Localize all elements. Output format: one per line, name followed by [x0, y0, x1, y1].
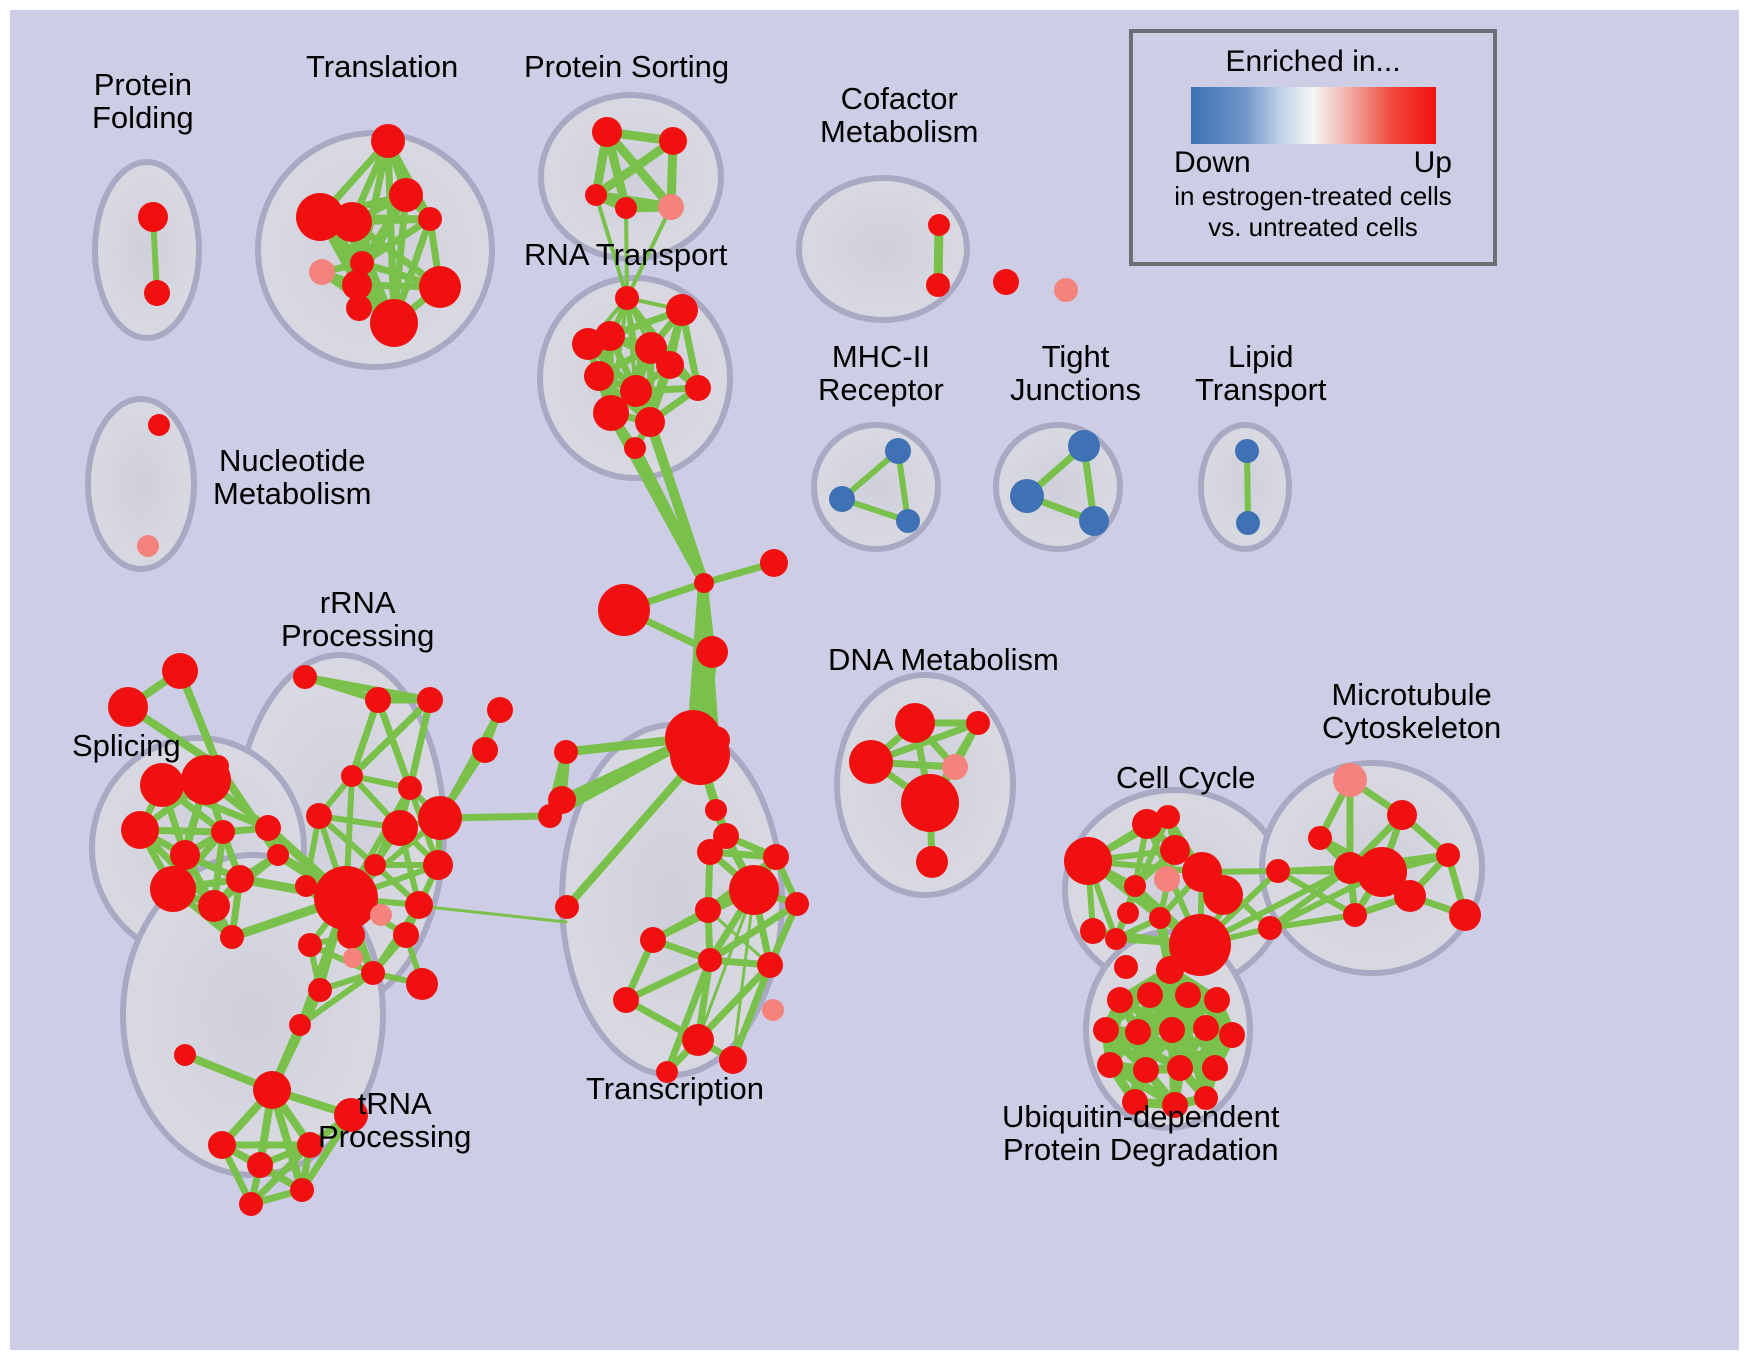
node-up [1114, 955, 1138, 979]
node-up [705, 799, 727, 821]
node-up [1387, 800, 1417, 830]
legend-endpoints: Down Up [1174, 146, 1452, 180]
node-up [1093, 1017, 1119, 1043]
node-down [1068, 430, 1100, 462]
node-up [298, 933, 322, 957]
node-up [685, 375, 711, 401]
node-up [1160, 835, 1190, 865]
node-up [572, 328, 604, 360]
node-up [585, 184, 607, 206]
node-down [1235, 439, 1259, 463]
node-up [593, 395, 629, 431]
node-up [1124, 875, 1146, 897]
cluster-label-microtubule: Microtubule Cytoskeleton [1322, 678, 1501, 744]
node-up [1203, 875, 1243, 915]
node-up [364, 854, 386, 876]
node-up [656, 351, 684, 379]
legend-subtitle-line2: vs. untreated cells [1208, 213, 1418, 242]
node-up [785, 892, 809, 916]
node-up [1125, 1019, 1151, 1045]
node-mid [137, 535, 159, 557]
node-up [337, 921, 365, 949]
node-up [760, 549, 788, 577]
cluster-label-nucleotide: Nucleotide Metabolism [213, 444, 372, 510]
node-up [640, 927, 666, 953]
cluster-label-protein-folding: Protein Folding [92, 68, 194, 134]
cluster-label-ubiquitin: Ubiquitin-dependent Protein Degradation [1002, 1100, 1280, 1166]
node-up [895, 703, 935, 743]
cluster-label-splicing: Splicing [72, 729, 181, 762]
node-up [393, 922, 419, 948]
node-up [1308, 826, 1332, 850]
node-up [670, 725, 730, 785]
node-up [598, 584, 650, 636]
node-up [267, 844, 289, 866]
node-up [220, 925, 244, 949]
node-up [1117, 902, 1139, 924]
node-mid [1054, 278, 1078, 302]
node-up [849, 740, 893, 784]
node-up [729, 865, 779, 915]
node-up [1105, 928, 1127, 950]
node-up [306, 803, 332, 829]
cluster-label-rrna: rRNA Processing [281, 586, 434, 652]
node-down [885, 438, 911, 464]
node-up [370, 299, 418, 347]
node-up [239, 1192, 263, 1216]
cluster-label-transcription: Transcription [586, 1072, 764, 1105]
node-up [1064, 837, 1112, 885]
node-up [1175, 982, 1201, 1008]
node-up [290, 1178, 314, 1202]
node-down [1010, 479, 1044, 513]
node-up [293, 665, 317, 689]
node-up [419, 266, 461, 308]
cluster-label-lipid-transport: Lipid Transport [1195, 340, 1327, 406]
node-mid [1154, 866, 1180, 892]
node-up [901, 774, 959, 832]
node-up [538, 804, 562, 828]
legend-title: Enriched in... [1225, 45, 1400, 79]
node-mid [762, 999, 784, 1021]
node-up [150, 866, 196, 912]
node-up [993, 269, 1019, 295]
node-up [555, 895, 579, 919]
hull-protein-folding [95, 162, 199, 338]
node-up [1449, 899, 1481, 931]
node-down [896, 509, 920, 533]
node-up [1080, 918, 1106, 944]
node-up [763, 844, 789, 870]
node-up [1167, 1055, 1193, 1081]
node-up [1394, 880, 1426, 912]
hull-protein-sorting [541, 95, 721, 259]
node-up [247, 1152, 273, 1178]
node-up [757, 952, 783, 978]
node-up [162, 653, 198, 689]
node-up [624, 437, 646, 459]
node-up [926, 273, 950, 297]
node-up [554, 740, 578, 764]
node-mid [1333, 763, 1367, 797]
legend-high-label: Up [1414, 146, 1452, 180]
node-mid [658, 194, 684, 220]
cluster-label-translation: Translation [306, 50, 458, 83]
node-up [615, 197, 637, 219]
node-up [255, 815, 281, 841]
figure-root: Protein Folding Translation Protein Sort… [0, 0, 1750, 1360]
cluster-label-dna-metabolism: DNA Metabolism [828, 643, 1059, 676]
node-up [719, 1046, 747, 1074]
node-up [916, 846, 948, 878]
node-up [181, 755, 231, 805]
node-up [417, 687, 443, 713]
node-up [1204, 987, 1230, 1013]
legend-color-bar [1191, 87, 1436, 144]
cluster-label-trna: tRNA Processing [318, 1087, 471, 1153]
node-down [1079, 506, 1109, 536]
node-up [108, 687, 148, 727]
node-up [697, 839, 723, 865]
node-up [695, 897, 721, 923]
node-up [211, 820, 235, 844]
node-up [208, 1131, 236, 1159]
node-up [198, 890, 230, 922]
node-up [382, 810, 418, 846]
node-up [487, 697, 513, 723]
node-up [615, 286, 639, 310]
node-up [966, 711, 990, 735]
cluster-label-mhc2: MHC-II Receptor [818, 340, 944, 406]
node-up [332, 202, 372, 242]
node-up [138, 202, 168, 232]
node-up [418, 796, 462, 840]
cluster-label-tight-junctions: Tight Junctions [1010, 340, 1141, 406]
node-up [1107, 987, 1133, 1013]
node-up [148, 414, 170, 436]
cluster-label-rna-transport: RNA Transport [524, 238, 727, 271]
node-up [398, 776, 422, 800]
node-mid [343, 948, 363, 968]
node-down [829, 486, 855, 512]
node-up [1137, 982, 1163, 1008]
node-up [659, 127, 687, 155]
node-up [635, 407, 665, 437]
legend-low-label: Down [1174, 146, 1251, 180]
node-up [584, 361, 614, 391]
node-up [592, 117, 622, 147]
cluster-label-cell-cycle: Cell Cycle [1116, 761, 1256, 794]
node-mid [309, 259, 335, 285]
legend-box: Enriched in... Down Up in estrogen-treat… [1129, 29, 1497, 266]
node-up [1219, 1022, 1245, 1048]
node-up [406, 968, 438, 1000]
node-up [698, 948, 722, 972]
node-up [666, 294, 698, 326]
hull-mhc2 [814, 425, 938, 549]
node-up [1149, 907, 1171, 929]
node-up [694, 573, 714, 593]
node-up [289, 1014, 311, 1036]
node-up [1193, 1015, 1219, 1041]
node-up [405, 891, 433, 919]
node-up [365, 687, 391, 713]
node-up [418, 207, 442, 231]
node-up [1156, 805, 1180, 829]
node-up [1266, 859, 1290, 883]
node-up [1258, 916, 1282, 940]
node-up [696, 636, 728, 668]
node-up [423, 850, 453, 880]
node-up [253, 1071, 291, 1109]
node-up [613, 987, 639, 1013]
cluster-label-cofactor: Cofactor Metabolism [820, 82, 979, 148]
node-mid [942, 754, 968, 780]
node-up [389, 178, 423, 212]
node-up [144, 280, 170, 306]
node-up [295, 875, 317, 897]
node-up [1097, 1052, 1123, 1078]
node-up [308, 978, 332, 1002]
node-up [1133, 1057, 1159, 1083]
node-up [1159, 1017, 1185, 1043]
node-up [1156, 956, 1184, 984]
node-up [928, 214, 950, 236]
node-up [1436, 843, 1460, 867]
node-up [226, 865, 254, 893]
node-mid [370, 904, 392, 926]
node-up [346, 295, 372, 321]
node-up [682, 1024, 714, 1056]
cluster-label-protein-sorting: Protein Sorting [524, 50, 729, 83]
node-up [314, 866, 378, 930]
node-up [371, 124, 405, 158]
network-canvas: Protein Folding Translation Protein Sort… [10, 10, 1739, 1350]
node-down [1236, 511, 1260, 535]
node-up [1343, 903, 1367, 927]
node-up [1202, 1055, 1228, 1081]
node-up [174, 1044, 196, 1066]
node-up [361, 961, 385, 985]
node-up [170, 840, 200, 870]
node-up [472, 737, 498, 763]
node-up [341, 765, 363, 787]
legend-subtitle-line1: in estrogen-treated cells [1174, 182, 1451, 211]
node-up [121, 811, 159, 849]
node-up [140, 763, 184, 807]
